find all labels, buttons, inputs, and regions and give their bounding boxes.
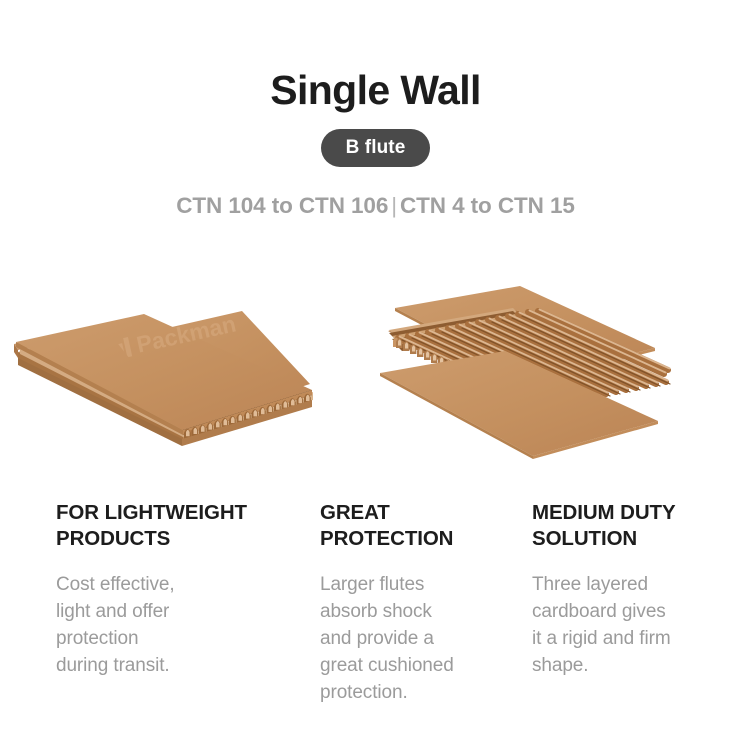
feature-column-protection: GREAT PROTECTION Larger flutes absorb sh…	[320, 500, 506, 707]
feature-column-medium-duty: MEDIUM DUTY SOLUTION Three layered cardb…	[532, 500, 718, 680]
feature-heading: FOR LIGHTWEIGHT PRODUCTS	[56, 500, 292, 552]
left-board-group: Packman	[14, 310, 313, 446]
feature-heading: MEDIUM DUTY SOLUTION	[532, 500, 718, 552]
sku-range-subtitle: CTN 104 to CTN 106|CTN 4 to CTN 15	[0, 167, 751, 219]
badge-row: B flute	[0, 129, 751, 167]
product-spec-card: Single Wall B flute CTN 104 to CTN 106|C…	[0, 0, 751, 751]
right-exploded-group	[380, 286, 670, 459]
feature-body: Larger flutes absorb shock and provide a…	[320, 552, 506, 707]
sku-range-separator: |	[388, 193, 400, 218]
feature-heading: GREAT PROTECTION	[320, 500, 506, 552]
feature-body: Three layered cardboard gives it a rigid…	[532, 552, 718, 680]
corrugated-board-illustration: Packman	[0, 278, 751, 473]
flute-type-badge: B flute	[321, 129, 431, 167]
sku-range-left: CTN 104 to CTN 106	[176, 193, 388, 218]
feature-column-lightweight: FOR LIGHTWEIGHT PRODUCTS Cost effective,…	[56, 500, 292, 680]
feature-body: Cost effective, light and offer protecti…	[56, 552, 292, 680]
page-title: Single Wall	[0, 0, 751, 114]
sku-range-right: CTN 4 to CTN 15	[400, 193, 575, 218]
feature-columns: FOR LIGHTWEIGHT PRODUCTS Cost effective,…	[0, 500, 751, 730]
header: Single Wall B flute CTN 104 to CTN 106|C…	[0, 0, 751, 219]
